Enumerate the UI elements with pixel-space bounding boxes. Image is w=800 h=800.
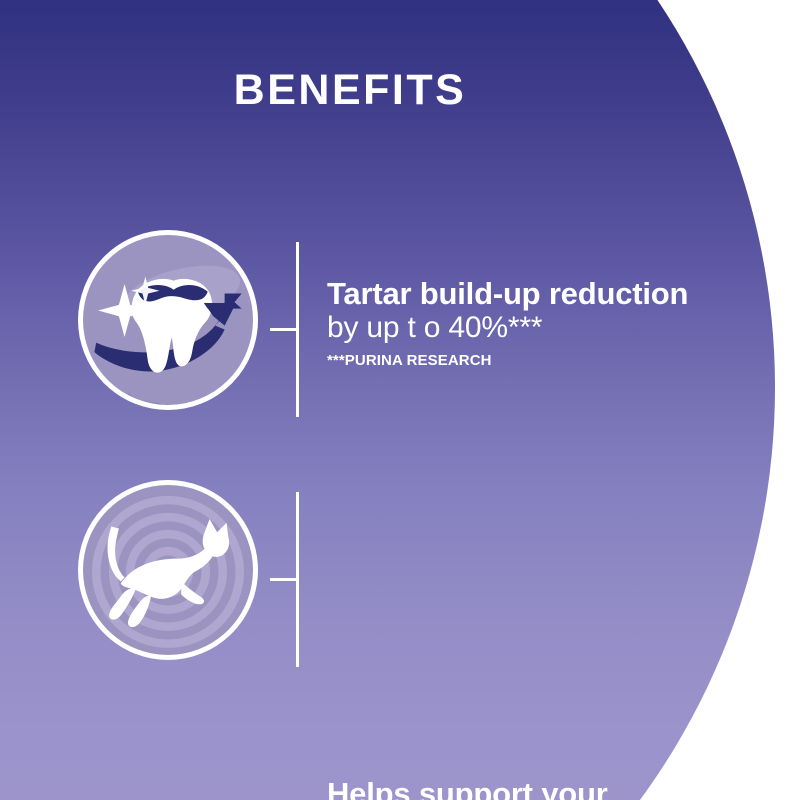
page-title: BENEFITS [0, 69, 700, 112]
tooth-tartar-icon [83, 235, 253, 405]
divider-tick [270, 578, 297, 581]
divider-tick [270, 328, 297, 331]
benefit-row-vitality: Helps support your cat’s vitality [0, 480, 800, 670]
benefits-panel: BENEFITS [0, 0, 800, 800]
benefit-footnote: ***PURINA RESEARCH [327, 352, 757, 369]
benefit-headline: Helps support your [327, 776, 757, 800]
cat-vitality-icon [83, 485, 253, 655]
benefit-icon-medallion [78, 230, 258, 410]
benefit-divider [296, 492, 336, 667]
benefit-headline: Tartar build-up reduction [327, 276, 757, 311]
benefit-row-tartar: Tartar build-up reduction by up t o 40%*… [0, 230, 800, 420]
benefit-icon-medallion [78, 480, 258, 660]
benefit-text-block: Helps support your cat’s vitality [327, 776, 757, 800]
benefit-text-block: Tartar build-up reduction by up t o 40%*… [327, 276, 757, 369]
benefit-subline: by up t o 40%*** [327, 311, 757, 345]
